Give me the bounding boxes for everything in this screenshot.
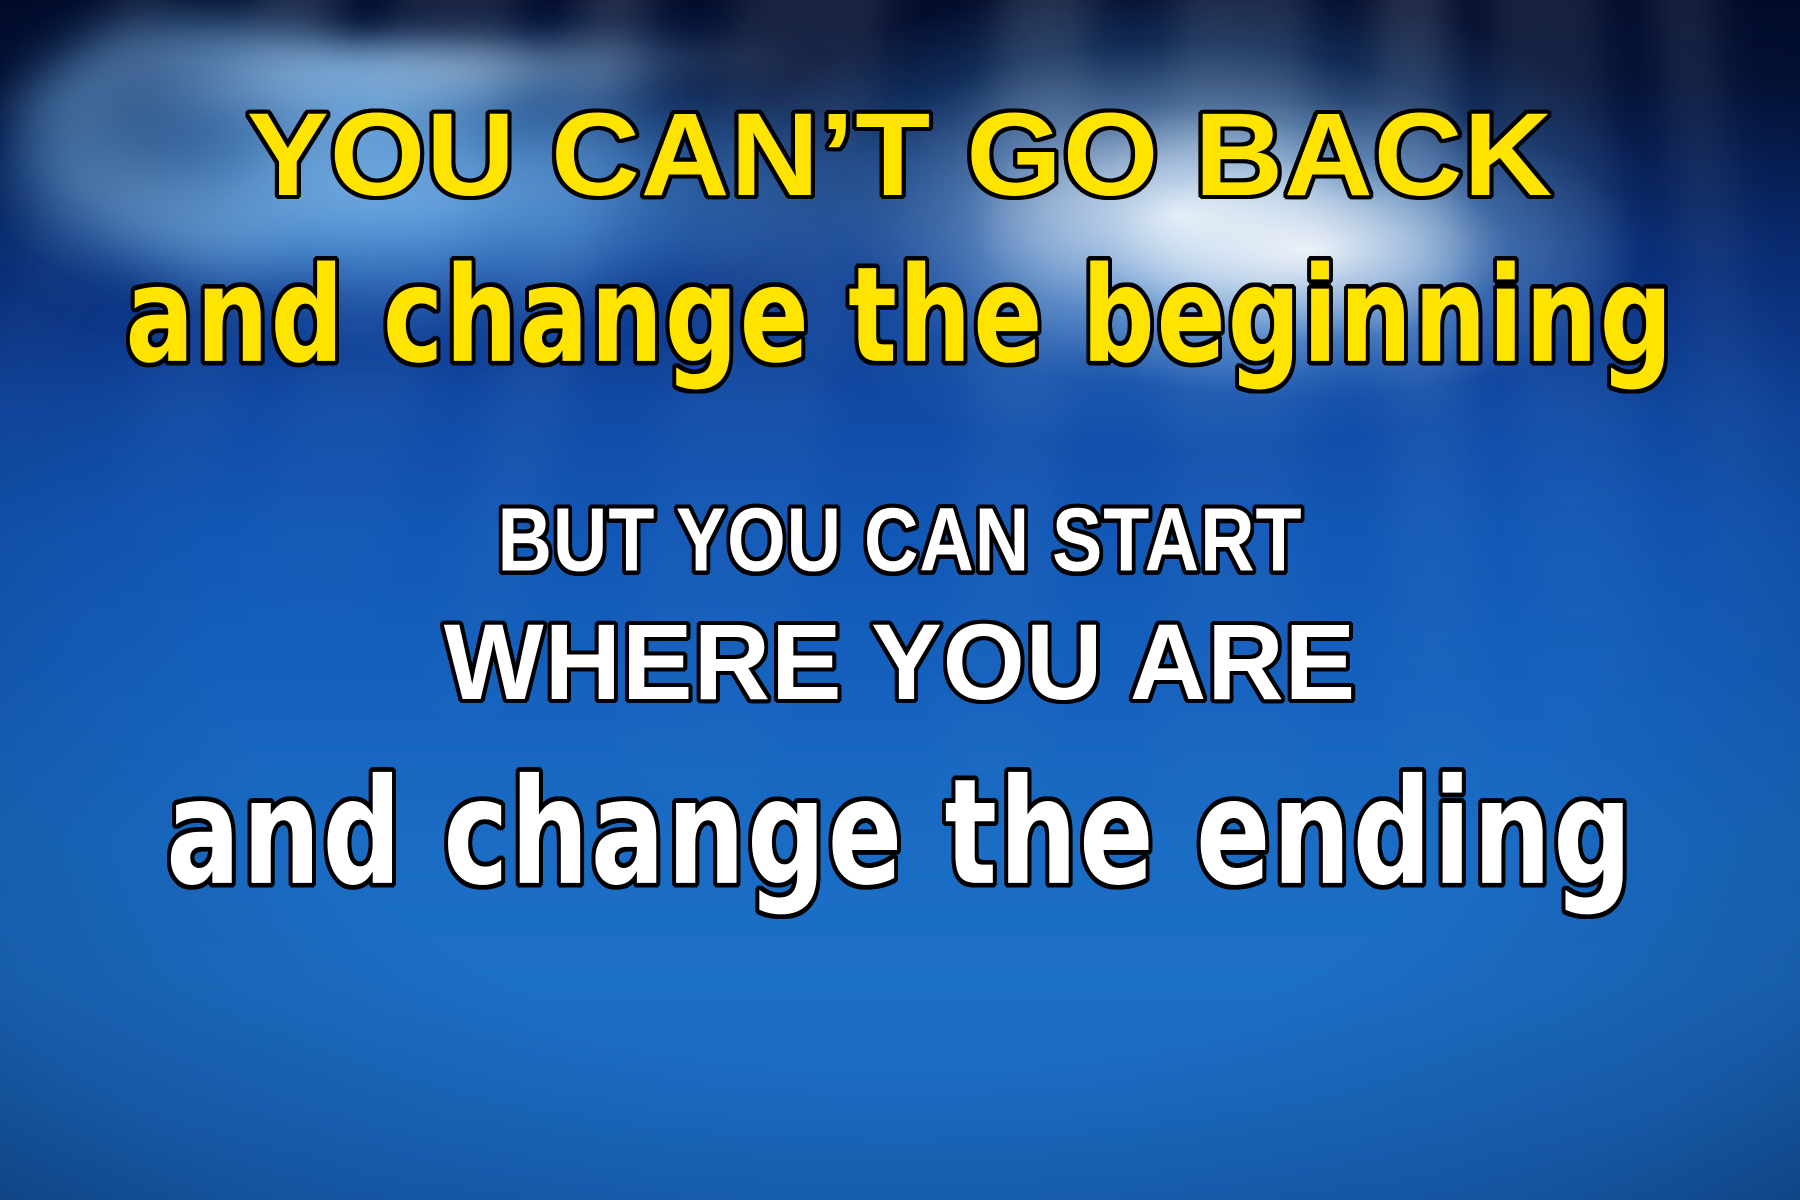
quote-line-1-headline: YOU CAN’T GO BACK xyxy=(0,96,1800,214)
quote-line-2-subheadline: and change the beginning xyxy=(36,249,1764,381)
quote-line-5-closing: and change the ending xyxy=(27,760,1773,906)
quote-line-3-body: BUT YOU CAN START xyxy=(72,496,1728,586)
quote-text-block: YOU CAN’T GO BACK and change the beginni… xyxy=(0,0,1800,1200)
quote-line-4-body-large: WHERE YOU ARE xyxy=(18,608,1782,716)
quote-poster: YOU CAN’T GO BACK and change the beginni… xyxy=(0,0,1800,1200)
